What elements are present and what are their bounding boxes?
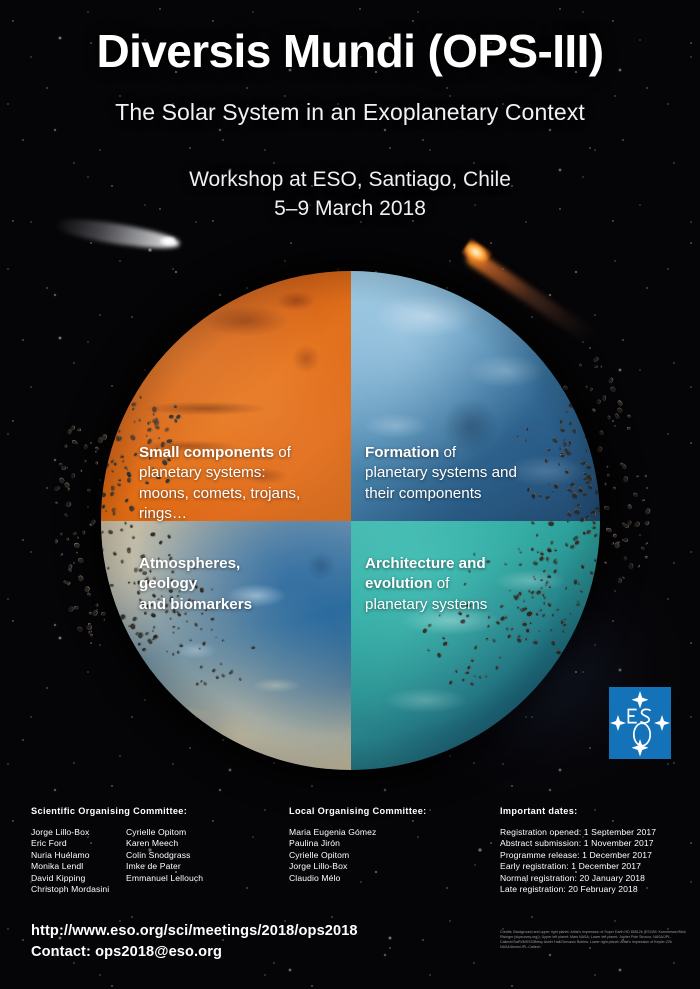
- asteroid: [68, 564, 73, 569]
- list-item: Abstract submission: 1 November 2017: [500, 838, 700, 849]
- asteroid: [626, 504, 632, 510]
- asteroid: [79, 469, 82, 472]
- asteroid: [77, 557, 84, 563]
- asteroid: [76, 626, 84, 634]
- asteroid: [95, 603, 99, 607]
- asteroid: [608, 416, 612, 420]
- dates-heading: Important dates:: [500, 806, 700, 816]
- asteroid: [77, 428, 81, 432]
- asteroid: [61, 466, 66, 470]
- asteroid: [92, 610, 99, 617]
- asteroid: [76, 537, 78, 540]
- topic-atmospheres: Atmospheres, geology and biomarkers: [139, 533, 339, 615]
- asteroid: [59, 462, 63, 466]
- list-item: Registration opened: 1 September 2017: [500, 827, 700, 838]
- asteroid: [87, 630, 91, 634]
- asteroid: [604, 482, 606, 485]
- list-item: Maria Eugenia Gómez: [289, 827, 479, 838]
- list-item: Jorge Lillo-Box: [289, 861, 479, 872]
- topic-tl-strong: Small components: [139, 444, 274, 461]
- list-item: Paulina Jirón: [289, 838, 479, 849]
- asteroid: [627, 427, 631, 430]
- dates-items: Registration opened: 1 September 2017Abs…: [500, 827, 700, 895]
- asteroid: [59, 477, 66, 484]
- soc-heading: Scientific Organising Committee:: [31, 806, 281, 816]
- asteroid: [616, 399, 623, 406]
- asteroid: [94, 446, 99, 451]
- venue-location: Workshop at ESO, Santiago, Chile: [0, 166, 700, 194]
- asteroid: [65, 501, 73, 508]
- asteroid: [622, 576, 626, 580]
- asteroid: [84, 459, 87, 462]
- contact-email[interactable]: Contact: ops2018@eso.org: [31, 942, 358, 963]
- topic-tr-strong: Formation: [365, 444, 439, 461]
- asteroid: [60, 532, 64, 536]
- topic-small-components: Small components of planetary systems: m…: [139, 422, 339, 525]
- loc-members: Maria Eugenia GómezPaulina JirónCyrielle…: [289, 827, 479, 884]
- asteroid: [613, 541, 620, 548]
- asteroid: [73, 532, 77, 536]
- footer-links: http://www.eso.org/sci/meetings/2018/ops…: [31, 921, 358, 963]
- asteroid: [89, 629, 93, 632]
- asteroid: [85, 624, 92, 630]
- asteroid: [622, 522, 627, 527]
- asteroid: [643, 520, 650, 526]
- asteroid: [89, 524, 92, 527]
- asteroid: [68, 568, 73, 573]
- list-item: Emmanuel Lellouch: [126, 873, 203, 884]
- asteroid: [616, 541, 619, 543]
- asteroid: [607, 474, 611, 478]
- asteroid: [67, 581, 71, 585]
- venue-dates: 5–9 March 2018: [0, 195, 700, 223]
- topic-bl-strong: Atmospheres, geology and biomarkers: [139, 555, 252, 613]
- eso-logo[interactable]: [609, 687, 671, 759]
- local-organising-committee: Local Organising Committee: Maria Eugeni…: [289, 806, 479, 884]
- list-item: Imke de Pater: [126, 861, 203, 872]
- asteroid: [88, 623, 92, 626]
- asteroid: [613, 534, 618, 539]
- topic-architecture: Architecture and evolution of planetary …: [365, 533, 570, 615]
- asteroid: [605, 527, 611, 533]
- meteor-nucleus: [461, 238, 493, 267]
- asteroid: [81, 530, 86, 535]
- asteroid: [633, 492, 640, 498]
- list-item: Christoph Mordasini: [31, 884, 126, 895]
- soc-name-columns: Jorge Lillo-BoxEric FordNuria HuélamoMon…: [31, 827, 281, 895]
- topic-br-strong: Architecture and evolution: [365, 555, 486, 593]
- asteroid: [627, 414, 633, 419]
- list-item: Early registration: 1 December 2017: [500, 861, 700, 872]
- soc-column-1: Jorge Lillo-BoxEric FordNuria HuélamoMon…: [31, 827, 126, 895]
- asteroid: [96, 461, 99, 465]
- asteroid: [633, 520, 641, 528]
- poster-canvas: Diversis Mundi (OPS-III) The Solar Syste…: [0, 0, 700, 989]
- asteroid: [603, 561, 607, 565]
- asteroid: [62, 580, 67, 586]
- asteroid: [66, 537, 70, 541]
- asteroid: [608, 377, 614, 384]
- asteroid: [67, 488, 70, 491]
- asteroid: [610, 541, 614, 545]
- page-subtitle: The Solar System in an Exoplanetary Cont…: [0, 99, 700, 126]
- asteroid: [63, 444, 67, 448]
- list-item: David Kipping: [31, 873, 126, 884]
- asteroid: [623, 556, 627, 560]
- asteroid: [63, 513, 68, 518]
- asteroid: [72, 440, 77, 445]
- asteroid: [88, 611, 92, 615]
- asteroid: [87, 592, 92, 597]
- asteroid: [609, 386, 617, 394]
- asteroid: [627, 519, 633, 525]
- asteroid: [613, 413, 619, 420]
- list-item: Cyrielle Opitom: [126, 827, 203, 838]
- soc-column-2: Cyrielle OpitomKaren MeechColin Snodgras…: [126, 827, 203, 895]
- asteroid: [70, 425, 76, 432]
- asteroid: [59, 553, 63, 556]
- list-item: Late registration: 20 February 2018: [500, 884, 700, 895]
- asteroid: [71, 473, 76, 478]
- list-item: Monika Lendl: [31, 861, 126, 872]
- asteroid: [66, 581, 70, 584]
- asteroid: [602, 396, 607, 402]
- list-item: Cyrielle Opitom: [289, 850, 479, 861]
- list-item: Claudio Mélo: [289, 873, 479, 884]
- asteroid: [74, 542, 81, 549]
- asteroid: [66, 467, 69, 470]
- asteroid: [624, 476, 629, 482]
- page-title: Diversis Mundi (OPS-III): [0, 27, 700, 75]
- list-item: Nuria Huélamo: [31, 850, 126, 861]
- venue-block: Workshop at ESO, Santiago, Chile 5–9 Mar…: [0, 166, 700, 223]
- scientific-organising-committee: Scientific Organising Committee: Jorge L…: [31, 806, 281, 895]
- asteroid: [624, 524, 630, 529]
- asteroid: [612, 487, 616, 491]
- asteroid: [76, 552, 78, 555]
- asteroid: [636, 475, 639, 477]
- asteroid: [89, 633, 93, 637]
- asteroid: [641, 499, 644, 502]
- poster-header: Diversis Mundi (OPS-III) The Solar Syste…: [0, 0, 700, 223]
- asteroid: [645, 555, 649, 559]
- asteroid: [84, 445, 88, 450]
- asteroid: [622, 464, 627, 470]
- asteroid: [623, 538, 629, 543]
- asteroid: [645, 542, 649, 545]
- asteroid: [74, 606, 80, 611]
- asteroid: [606, 465, 609, 468]
- asteroid: [95, 451, 98, 453]
- asteroid: [645, 508, 651, 515]
- asteroid: [68, 429, 72, 434]
- list-item: Colin Snodgrass: [126, 850, 203, 861]
- asteroid: [616, 407, 623, 414]
- asteroid: [604, 506, 610, 511]
- asteroid: [67, 606, 74, 614]
- asteroid: [53, 485, 60, 492]
- website-url[interactable]: http://www.eso.org/sci/meetings/2018/ops…: [31, 921, 358, 942]
- important-dates: Important dates: Registration opened: 1 …: [500, 806, 700, 895]
- asteroid: [87, 488, 92, 492]
- asteroid: [64, 481, 72, 489]
- list-item: Eric Ford: [31, 838, 126, 849]
- asteroid: [89, 518, 96, 525]
- comet-nucleus: [159, 236, 175, 246]
- list-item: Programme release: 1 December 2017: [500, 850, 700, 861]
- topic-formation: Formation of planetary systems and their…: [365, 422, 570, 504]
- asteroid: [645, 475, 647, 478]
- asteroid: [636, 565, 640, 569]
- image-credits: Credits: Background and upper right plan…: [500, 930, 696, 950]
- asteroid: [84, 586, 90, 593]
- loc-heading: Local Organising Committee:: [289, 806, 479, 816]
- list-item: Jorge Lillo-Box: [31, 827, 126, 838]
- asteroid: [55, 501, 59, 505]
- asteroid: [629, 564, 634, 571]
- asteroid: [54, 539, 58, 544]
- list-item: Normal registration: 20 January 2018: [500, 873, 700, 884]
- asteroid: [78, 574, 85, 581]
- asteroid: [94, 608, 98, 612]
- asteroid: [620, 463, 625, 468]
- asteroid: [640, 546, 644, 550]
- asteroid: [75, 441, 78, 444]
- asteroid: [618, 578, 623, 584]
- list-item: Karen Meech: [126, 838, 203, 849]
